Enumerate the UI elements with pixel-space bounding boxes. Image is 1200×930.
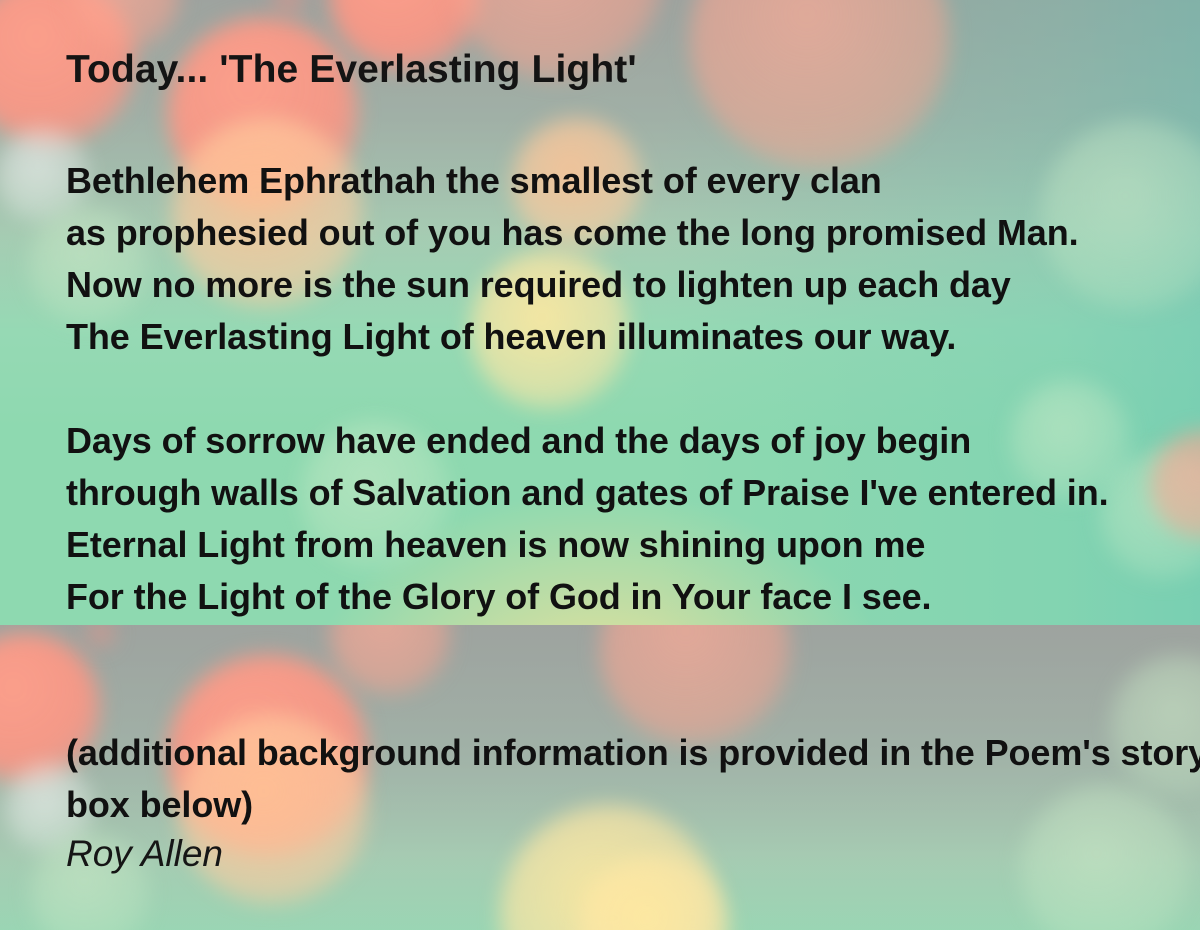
poem-line-blank <box>66 675 1176 727</box>
poem-text-layer: Today... 'The Everlasting Light' Bethleh… <box>0 0 1200 930</box>
poem-line-blank <box>66 623 1176 675</box>
poem-line: For the Light of the Glory of God in You… <box>66 571 1176 623</box>
poem-line: Eternal Light from heaven is now shining… <box>66 519 1176 571</box>
poem-line: box below) <box>66 779 1176 831</box>
poem-image-card: Today... 'The Everlasting Light' Bethleh… <box>0 0 1200 930</box>
poem-line: through walls of Salvation and gates of … <box>66 467 1176 519</box>
poem-author: Roy Allen <box>66 833 223 875</box>
poem-line: (additional background information is pr… <box>66 727 1176 779</box>
poem-line: Now no more is the sun required to light… <box>66 259 1176 311</box>
poem-line: as prophesied out of you has come the lo… <box>66 207 1176 259</box>
poem-title: Today... 'The Everlasting Light' <box>66 48 637 92</box>
poem-line: Days of sorrow have ended and the days o… <box>66 415 1176 467</box>
poem-line: The Everlasting Light of heaven illumina… <box>66 311 1176 363</box>
poem-body: Bethlehem Ephrathah the smallest of ever… <box>66 155 1176 831</box>
poem-line-blank <box>66 363 1176 415</box>
poem-line: Bethlehem Ephrathah the smallest of ever… <box>66 155 1176 207</box>
